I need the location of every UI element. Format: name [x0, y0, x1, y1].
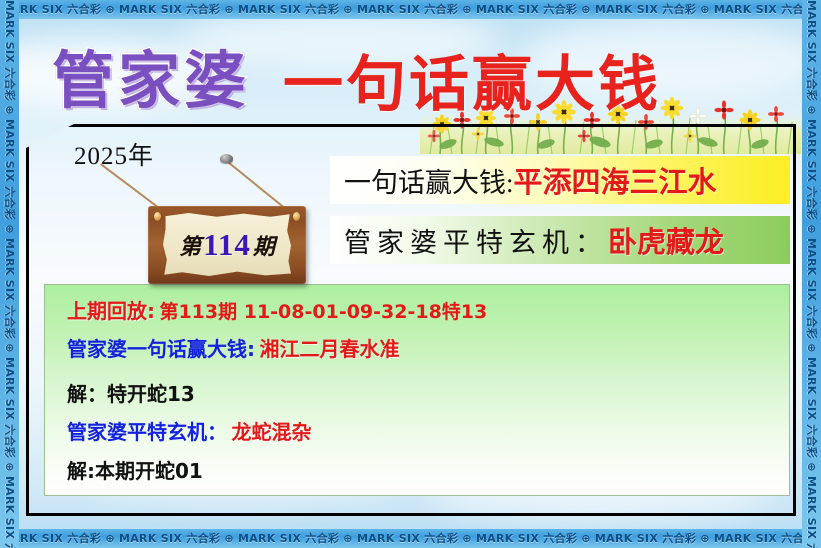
content-box: 上期回放: 第113期 11-08-01-09-32-18特13 管家婆一句话赢…	[44, 284, 790, 496]
replay-value: 第113期 11-08-01-09-32-18特13	[159, 301, 487, 323]
secret-value: 龙蛇混杂	[231, 420, 311, 444]
screw-icon	[154, 212, 161, 221]
issue-suffix: 期	[253, 229, 275, 261]
content-line-answer-2: 解:本期开蛇01	[67, 455, 203, 484]
content-line-secret: 管家婆平特玄机： 龙蛇混杂	[67, 416, 311, 445]
banner-row-prediction: 一句话赢大钱: 平添四海三江水	[330, 156, 790, 204]
prediction-value: 湘江二月春水准	[259, 337, 399, 361]
content-line-replay: 上期回放: 第113期 11-08-01-09-32-18特13	[67, 295, 487, 324]
border-left: MARK SIX 六合彩 ⊕ MARK SIX 六合彩 ⊕ MARK SIX 六…	[0, 0, 19, 548]
banner-row-secret: 管家婆平特玄机： 卧虎藏龙	[330, 216, 790, 264]
banner-label: 一句话赢大钱:	[344, 161, 514, 200]
rope-right	[226, 160, 288, 211]
replay-label: 上期回放:	[67, 299, 155, 323]
poster-stage: 管家婆 一句话赢大钱 2025年 第 114 期 一句话赢大钱	[0, 0, 821, 548]
issue-prefix: 第	[179, 229, 201, 261]
border-marquee-text: MARK SIX 六合彩 ⊕ MARK SIX 六合彩 ⊕ MARK SIX 六…	[0, 0, 821, 19]
screw-icon	[293, 212, 300, 221]
hanging-issue-sign: 第 114 期	[114, 154, 339, 294]
issue-number: 114	[203, 227, 251, 263]
border-top: MARK SIX 六合彩 ⊕ MARK SIX 六合彩 ⊕ MARK SIX 六…	[0, 0, 821, 19]
wooden-board: 第 114 期	[148, 206, 306, 284]
prediction-label: 管家婆一句话赢大钱:	[67, 337, 255, 361]
answer-text: 解:本期开蛇01	[67, 459, 203, 483]
border-marquee-text: MARK SIX 六合彩 ⊕ MARK SIX 六合彩 ⊕ MARK SIX 六…	[0, 529, 821, 548]
brand-logo-text: 管家婆	[52, 44, 250, 117]
answer-text: 解：特开蛇13	[67, 382, 195, 406]
brand-logo: 管家婆	[52, 30, 250, 120]
page-title: 一句话赢大钱	[283, 36, 661, 123]
banner-value: 平添四海三江水	[514, 159, 717, 201]
banner-value: 卧虎藏龙	[608, 219, 724, 261]
nail-icon	[220, 154, 233, 163]
content-line-answer-1: 解：特开蛇13	[67, 378, 195, 407]
secret-label: 管家婆平特玄机：	[67, 420, 227, 444]
border-marquee-text: MARK SIX 六合彩 ⊕ MARK SIX 六合彩 ⊕ MARK SIX 六…	[0, 0, 19, 548]
banner-label: 管家婆平特玄机：	[344, 221, 608, 260]
border-marquee-text: MARK SIX 六合彩 ⊕ MARK SIX 六合彩 ⊕ MARK SIX 六…	[802, 0, 821, 548]
issue-text-group: 第 114 期	[163, 213, 291, 276]
border-right: MARK SIX 六合彩 ⊕ MARK SIX 六合彩 ⊕ MARK SIX 六…	[802, 0, 821, 548]
border-bottom: MARK SIX 六合彩 ⊕ MARK SIX 六合彩 ⊕ MARK SIX 六…	[0, 529, 821, 548]
content-line-prediction: 管家婆一句话赢大钱: 湘江二月春水准	[67, 333, 399, 362]
main-panel: 2025年 第 114 期 一句话赢大钱: 平添四海三江水	[26, 124, 796, 516]
